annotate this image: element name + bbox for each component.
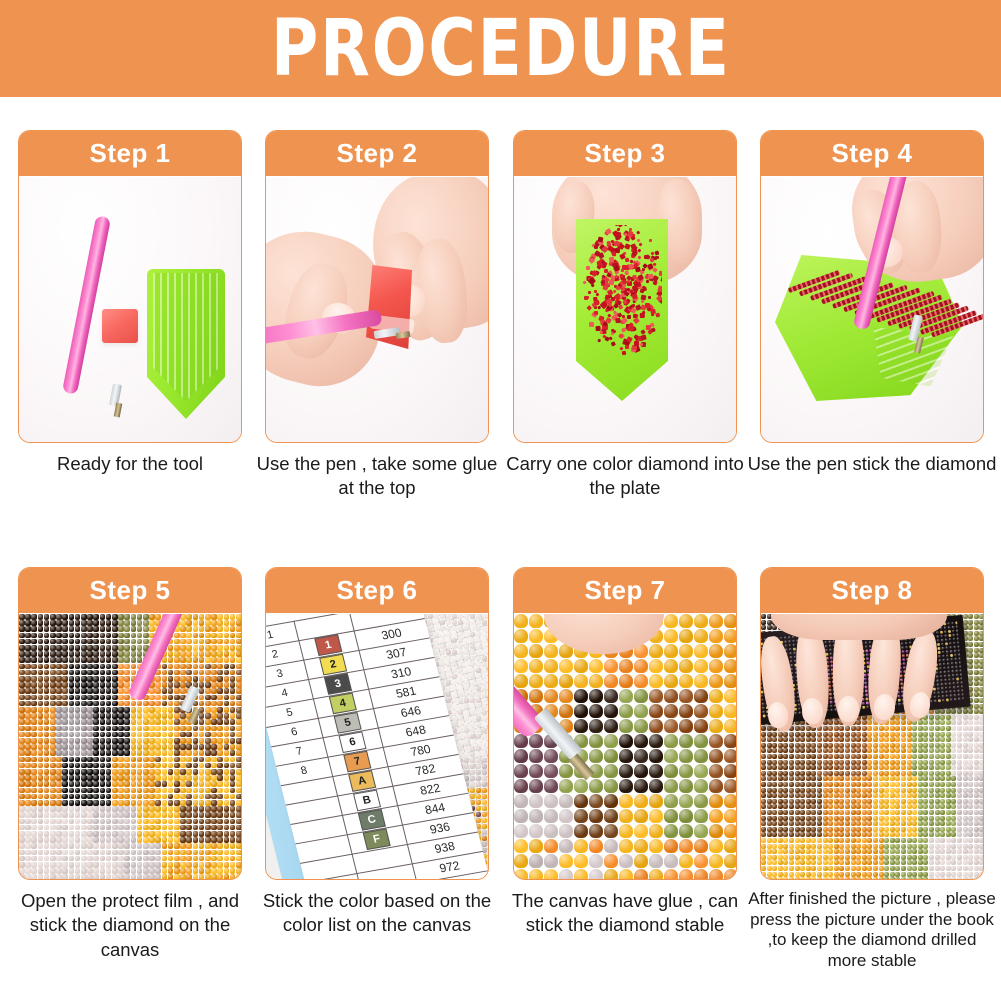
step-card-8[interactable]: Step 8 xyxy=(760,567,984,880)
step-card-1[interactable]: Step 1 xyxy=(18,130,242,443)
step-cell-7: Step 7 The canvas have glue , can stick … xyxy=(513,567,737,880)
diamond-macro-mosaic xyxy=(514,614,736,879)
steps-row-top: Step 1 Ready for the tool xyxy=(0,130,1001,550)
step-cell-3: Step 3 Carry one color diamond into the … xyxy=(513,130,737,443)
step-caption-6: Stick the color based on the color list … xyxy=(251,889,503,938)
fingernail-icon xyxy=(838,696,859,722)
step-cell-1: Step 1 Ready for the tool xyxy=(18,130,242,443)
step-image-5 xyxy=(19,614,241,879)
step-header-8: Step 8 xyxy=(760,567,984,613)
step-card-3[interactable]: Step 3 xyxy=(513,130,737,443)
step-image-7 xyxy=(514,614,736,879)
step-header-5: Step 5 xyxy=(18,567,242,613)
page-title: PROCEDURE xyxy=(271,10,731,88)
step-caption-1: Ready for the tool xyxy=(4,452,256,476)
step-caption-2: Use the pen , take some glue at the top xyxy=(251,452,503,501)
step-header-3: Step 3 xyxy=(513,130,737,176)
step-header-2: Step 2 xyxy=(265,130,489,176)
step-label-1: Step 1 xyxy=(89,138,170,169)
step-header-7: Step 7 xyxy=(513,567,737,613)
palm xyxy=(771,614,947,640)
step-header-4: Step 4 xyxy=(760,130,984,176)
step-caption-4: Use the pen stick the diamond xyxy=(746,452,998,476)
step-caption-7: The canvas have glue , can stick the dia… xyxy=(499,889,751,938)
step-cell-5: Step 5 Open the protect film , and stick… xyxy=(18,567,242,880)
step-label-4: Step 4 xyxy=(831,138,912,169)
steps-row-bottom: Step 5 Open the protect film , and stick… xyxy=(0,567,1001,987)
step-label-3: Step 3 xyxy=(584,138,665,169)
page-header-band: PROCEDURE xyxy=(0,0,1001,97)
step-label-6: Step 6 xyxy=(336,575,417,606)
step-card-4[interactable]: Step 4 xyxy=(760,130,984,443)
step-caption-8: After finished the picture , please pres… xyxy=(746,889,998,972)
step-image-2 xyxy=(266,177,488,442)
step-card-6[interactable]: Step 6 No.SymbolDMC121300323074331054581… xyxy=(265,567,489,880)
step-label-7: Step 7 xyxy=(584,575,665,606)
step-image-1 xyxy=(19,177,241,442)
step-caption-5: Open the protect film , and stick the di… xyxy=(4,889,256,962)
step-image-6: No.SymbolDMC1213003230743310545816564676… xyxy=(266,614,488,879)
step-label-2: Step 2 xyxy=(336,138,417,169)
step-card-7[interactable]: Step 7 xyxy=(513,567,737,880)
step-card-2[interactable]: Step 2 xyxy=(265,130,489,443)
step-image-8 xyxy=(761,614,983,879)
diamond-mosaic xyxy=(19,614,241,879)
steps-grid: Step 1 Ready for the tool xyxy=(0,97,1001,1001)
step-card-5[interactable]: Step 5 xyxy=(18,567,242,880)
step-header-1: Step 1 xyxy=(18,130,242,176)
step-image-4 xyxy=(761,177,983,442)
step-cell-2: Step 2 xyxy=(265,130,489,443)
glue-wax-icon xyxy=(102,309,138,343)
step-cell-8: Step 8 After finished the picture , plea… xyxy=(760,567,984,880)
step-label-8: Step 8 xyxy=(831,575,912,606)
step-header-6: Step 6 xyxy=(265,567,489,613)
step-caption-3: Carry one color diamond into the plate xyxy=(499,452,751,501)
step-label-5: Step 5 xyxy=(89,575,170,606)
step-image-3 xyxy=(514,177,736,442)
step-cell-6: Step 6 No.SymbolDMC121300323074331054581… xyxy=(265,567,489,880)
step-cell-4: Step 4 xyxy=(760,130,984,443)
